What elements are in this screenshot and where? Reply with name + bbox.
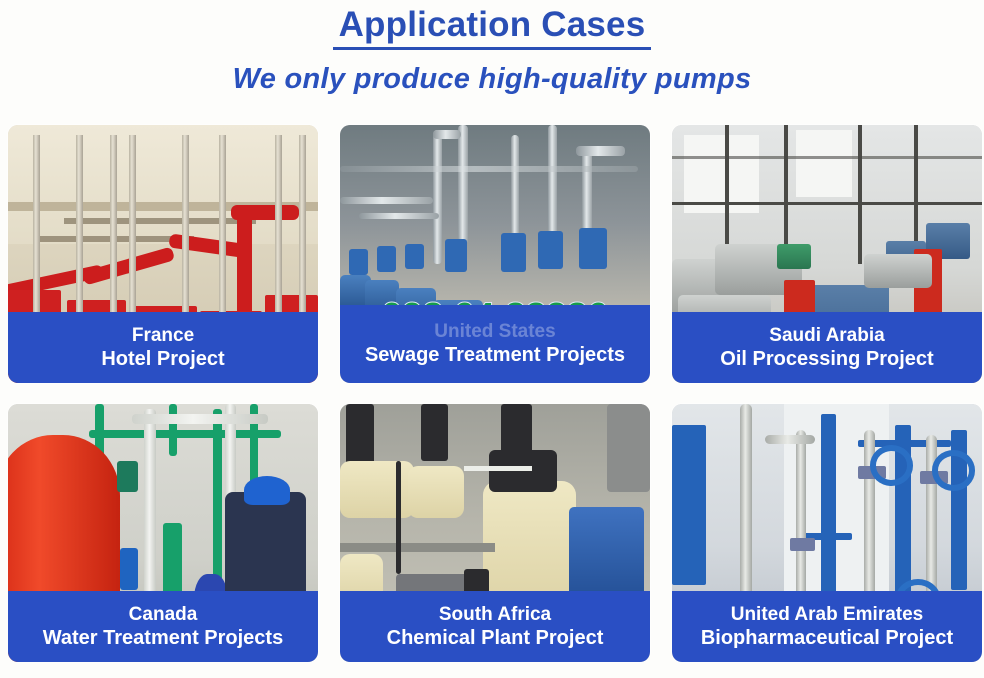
case-project: Chemical Plant Project — [387, 626, 604, 650]
case-country: Canada — [129, 603, 198, 626]
case-project: Sewage Treatment Projects — [365, 343, 625, 367]
header: Application Cases We only produce high-q… — [0, 0, 984, 95]
case-banner-uae: United Arab Emirates Biopharmaceutical P… — [672, 591, 982, 662]
case-country: Saudi Arabia — [769, 324, 884, 347]
case-banner-united-states: United States Sewage Treatment Projects — [340, 305, 650, 383]
page-subtitle: We only produce high-quality pumps — [0, 63, 984, 95]
case-banner-canada: Canada Water Treatment Projects — [8, 591, 318, 662]
case-card-france[interactable]: France Hotel Project — [8, 125, 318, 383]
page-title: Application Cases — [333, 6, 652, 50]
case-country: United States — [434, 320, 555, 343]
case-project: Oil Processing Project — [720, 347, 933, 371]
case-card-south-africa[interactable]: South Africa Chemical Plant Project — [340, 404, 650, 662]
case-grid: France Hotel Project — [8, 125, 976, 662]
case-banner-saudi-arabia: Saudi Arabia Oil Processing Project — [672, 312, 982, 383]
case-project: Hotel Project — [101, 347, 224, 371]
case-country: South Africa — [439, 603, 551, 626]
case-project: Biopharmaceutical Project — [701, 626, 953, 650]
application-cases-banner: Application Cases We only produce high-q… — [0, 0, 984, 678]
case-country: France — [132, 324, 194, 347]
case-banner-south-africa: South Africa Chemical Plant Project — [340, 591, 650, 662]
case-banner-france: France Hotel Project — [8, 312, 318, 383]
case-project: Water Treatment Projects — [43, 626, 283, 650]
case-card-united-states[interactable]: 098.64.88386 United States Sewage Treatm… — [340, 125, 650, 383]
case-country: United Arab Emirates — [731, 603, 924, 626]
case-card-canada[interactable]: Canada Water Treatment Projects — [8, 404, 318, 662]
case-card-saudi-arabia[interactable]: Saudi Arabia Oil Processing Project — [672, 125, 982, 383]
case-card-uae[interactable]: United Arab Emirates Biopharmaceutical P… — [672, 404, 982, 662]
